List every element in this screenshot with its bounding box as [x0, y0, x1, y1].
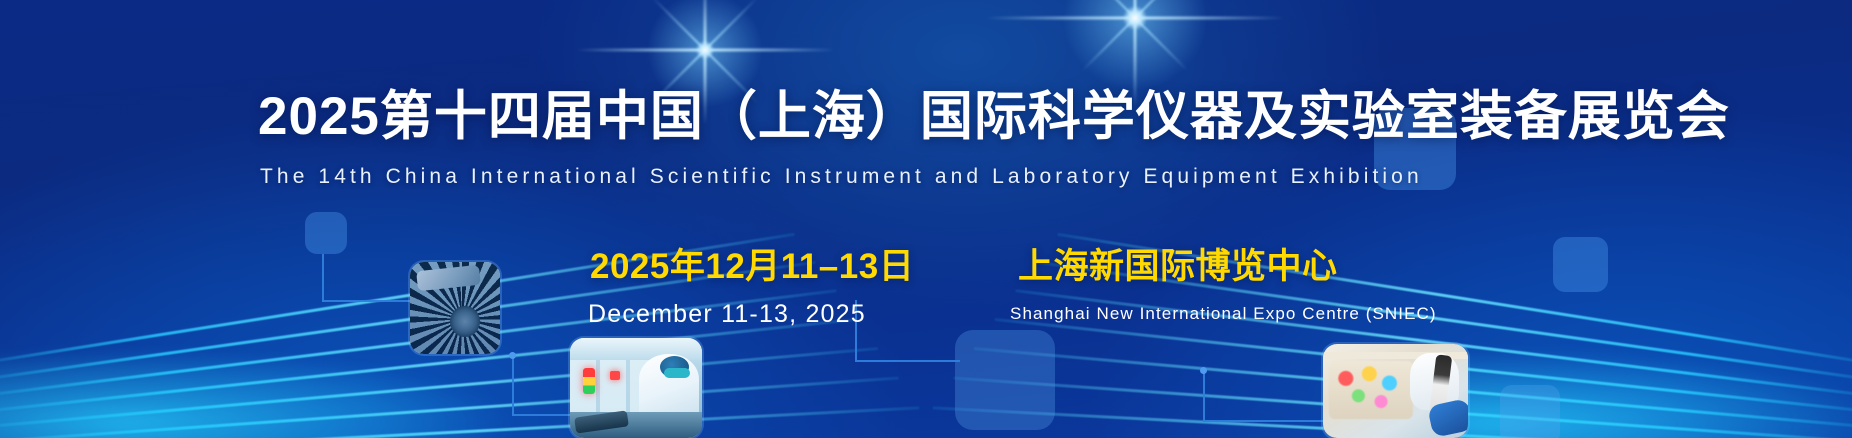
banner-text-block: 2025第十四届中国（上海）国际科学仪器及实验室装备展览会 The 14th C…: [0, 0, 1852, 438]
banner-title-english: The 14th China International Scientific …: [260, 166, 1423, 187]
exhibition-banner: 2025第十四届中国（上海）国际科学仪器及实验室装备展览会 The 14th C…: [0, 0, 1852, 438]
event-venue-english: Shanghai New International Expo Centre (…: [1010, 305, 1437, 322]
event-date-english: December 11-13, 2025: [588, 302, 866, 327]
event-date-chinese: 2025年12月11–13日: [590, 249, 914, 284]
event-venue-chinese: 上海新国际博览中心: [1018, 249, 1338, 284]
banner-title-chinese: 2025第十四届中国（上海）国际科学仪器及实验室装备展览会: [258, 90, 1730, 143]
